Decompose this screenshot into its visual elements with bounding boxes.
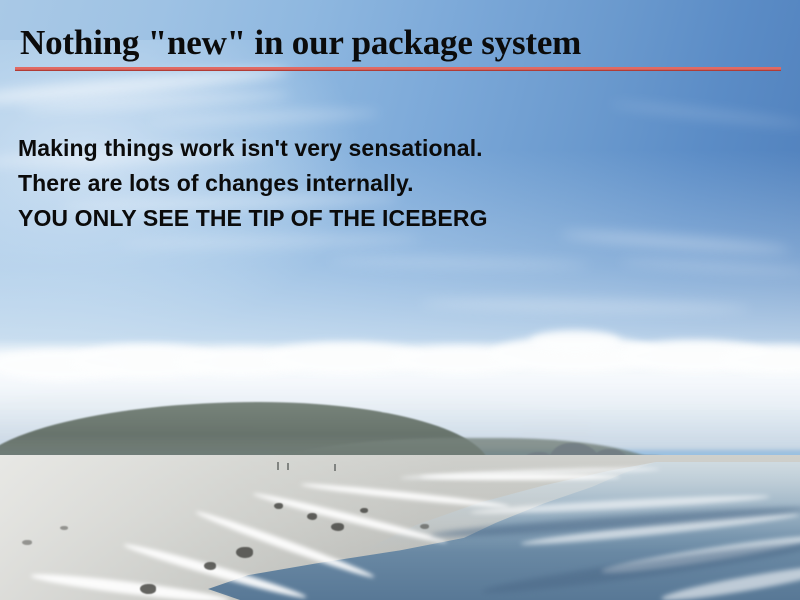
slide: Nothing "new" in our package system Maki… xyxy=(0,0,800,600)
body-line-2: There are lots of changes internally. xyxy=(18,167,758,199)
body-line-1: Making things work isn't very sensationa… xyxy=(18,132,758,164)
page-title: Nothing "new" in our package system xyxy=(20,22,780,64)
body-line-3: YOU ONLY SEE THE TIP OF THE ICEBERG xyxy=(18,202,758,234)
title-underline-rule xyxy=(15,67,781,71)
body-text-block: Making things work isn't very sensationa… xyxy=(18,132,758,237)
background-photo xyxy=(0,0,800,600)
